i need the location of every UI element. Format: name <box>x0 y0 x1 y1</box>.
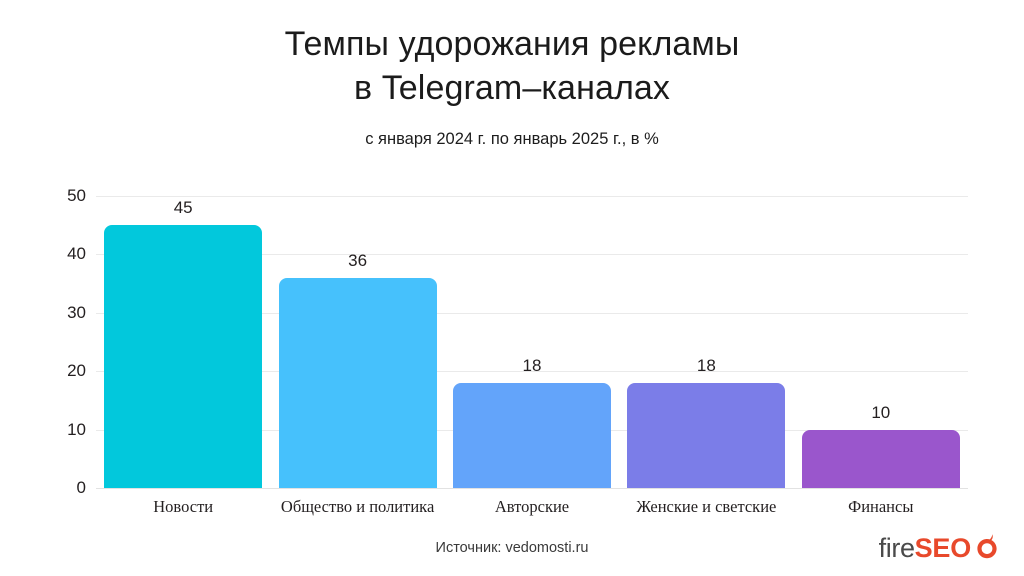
x-tick-label: Женские и светские <box>636 497 776 517</box>
y-tick-label: 50 <box>52 186 86 206</box>
x-tick-label: Финансы <box>848 497 913 517</box>
bar[interactable] <box>627 383 785 488</box>
y-tick-label: 20 <box>52 361 86 381</box>
bar-column: 36 <box>279 196 437 488</box>
x-tick-label: Общество и политика <box>281 497 434 517</box>
flame-ring-icon <box>972 531 1002 566</box>
y-tick-label: 30 <box>52 303 86 323</box>
x-tick-label: Авторские <box>495 497 569 517</box>
x-axis: НовостиОбщество и политикаАвторскиеЖенск… <box>96 497 968 521</box>
fireseo-logo[interactable]: fire SEO <box>879 531 1002 565</box>
chart-page: Темпы удорожания рекламы в Telegram–кана… <box>0 0 1024 576</box>
bar-column: 18 <box>453 196 611 488</box>
bar-value-label: 18 <box>627 356 785 376</box>
bar-series: 4536181810 <box>96 196 968 488</box>
x-tick-label: Новости <box>153 497 213 517</box>
bar-value-label: 18 <box>453 356 611 376</box>
logo-text-seo: SEO <box>915 533 971 564</box>
bar[interactable] <box>279 278 437 488</box>
gridline <box>96 488 968 489</box>
y-tick-label: 0 <box>52 478 86 498</box>
bar-value-label: 45 <box>104 198 262 218</box>
page-title: Темпы удорожания рекламы в Telegram–кана… <box>0 22 1024 110</box>
bar-column: 10 <box>802 196 960 488</box>
bar[interactable] <box>802 430 960 488</box>
bar-value-label: 36 <box>279 251 437 271</box>
bar-column: 45 <box>104 196 262 488</box>
bar[interactable] <box>453 383 611 488</box>
logo-text-fire: fire <box>879 533 915 564</box>
bar[interactable] <box>104 225 262 488</box>
chart-subtitle: с января 2024 г. по январь 2025 г., в % <box>0 128 1024 150</box>
y-tick-label: 10 <box>52 420 86 440</box>
y-tick-label: 40 <box>52 244 86 264</box>
plot-area: 01020304050 4536181810 <box>0 196 1024 496</box>
bar-value-label: 10 <box>802 403 960 423</box>
y-axis: 01020304050 <box>52 196 86 488</box>
title-block: Темпы удорожания рекламы в Telegram–кана… <box>0 22 1024 150</box>
bar-column: 18 <box>627 196 785 488</box>
source-note: Источник: vedomosti.ru <box>0 540 1024 556</box>
